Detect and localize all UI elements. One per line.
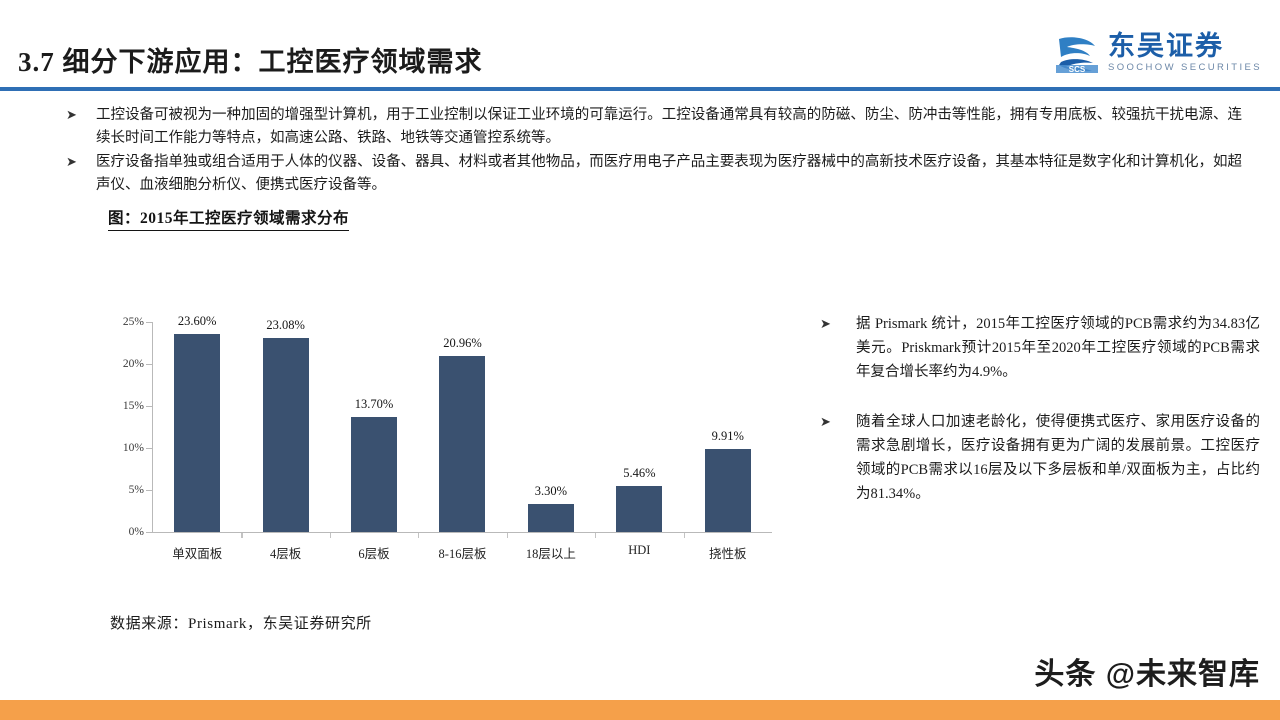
bar-value-label: 23.60%: [178, 314, 217, 329]
y-axis-tick-mark: [146, 406, 152, 407]
x-axis-category-label: 18层以上: [526, 543, 576, 562]
bar-value-label: 20.96%: [443, 336, 482, 351]
bar: [616, 486, 662, 532]
y-axis-tick-labels: 0%5%10%15%20%25%: [100, 322, 144, 532]
bar-value-label: 13.70%: [355, 397, 394, 412]
y-axis-tick-label: 25%: [123, 316, 144, 328]
bullet-text: 工控设备可被视为一种加固的增强型计算机，用于工业控制以保证工业环境的可靠运行。工…: [96, 104, 1242, 149]
x-axis-category-label: 4层板: [270, 543, 301, 562]
x-axis-category-label: 挠性板: [709, 543, 747, 562]
brand-name-cn: 东吴证券: [1108, 33, 1262, 60]
bar: [174, 334, 220, 532]
bar-group: 5.46%: [595, 322, 683, 532]
bullet-arrow-icon: ➤: [820, 410, 856, 434]
bar: [528, 504, 574, 532]
bullet-item: ➤ 据 Prismark 统计，2015年工控医疗领域的PCB需求约为34.83…: [820, 312, 1260, 384]
chart-plot-region: 0%5%10%15%20%25% 23.60%23.08%13.70%20.96…: [100, 300, 800, 550]
bullet-text: 据 Prismark 统计，2015年工控医疗领域的PCB需求约为34.83亿美…: [856, 312, 1260, 384]
right-bullet-list: ➤ 据 Prismark 统计，2015年工控医疗领域的PCB需求约为34.83…: [820, 312, 1260, 532]
soochow-logo-mark-icon: SCS: [1055, 32, 1099, 74]
y-axis-tick-label: 20%: [123, 358, 144, 370]
brand-logo: SCS 东吴证券 SOOCHOW SECURITIES: [1055, 30, 1262, 76]
y-axis-tick-label: 15%: [123, 400, 144, 412]
footer-accent-bar: [0, 700, 1280, 720]
brand-name-en: SOOCHOW SECURITIES: [1108, 63, 1262, 73]
x-axis-tick-mark: [241, 533, 242, 538]
bullet-text: 医疗设备指单独或组合适用于人体的仪器、设备、器具、材料或者其他物品，而医疗用电子…: [96, 151, 1242, 196]
y-axis-tick-label: 5%: [129, 484, 144, 496]
y-axis-tick-mark: [146, 364, 152, 365]
bar-group: 9.91%: [684, 322, 772, 532]
x-axis-tick-mark: [507, 533, 508, 538]
x-axis-tick-mark: [330, 533, 331, 538]
bullet-arrow-icon: ➤: [62, 151, 96, 173]
x-axis-category-label: 8-16层板: [439, 543, 487, 562]
bar: [263, 338, 309, 532]
header-divider: [0, 87, 1280, 91]
svg-text:SCS: SCS: [1069, 65, 1086, 74]
bar-value-label: 9.91%: [712, 429, 744, 444]
x-axis-category-label: HDI: [628, 543, 650, 558]
bar-value-label: 5.46%: [623, 466, 655, 481]
bar-group: 3.30%: [507, 322, 595, 532]
watermark-text: 头条 @未来智库: [1034, 649, 1260, 693]
y-axis-tick-mark: [146, 532, 152, 533]
y-axis-tick-mark: [146, 322, 152, 323]
bar: [439, 356, 485, 532]
slide-header: 3.7 细分下游应用：工控医疗领域需求 SCS 东吴证券 SOOCHOW SEC…: [0, 0, 1280, 92]
bar-group: 13.70%: [330, 322, 418, 532]
bar: [705, 449, 751, 532]
bullet-text: 随着全球人口加速老龄化，使得便携式医疗、家用医疗设备的需求急剧增长，医疗设备拥有…: [856, 410, 1260, 506]
x-axis-category-label: 6层板: [358, 543, 389, 562]
x-axis-tick-mark: [595, 533, 596, 538]
figure-caption: 图：2015年工控医疗领域需求分布: [108, 206, 349, 231]
bullet-arrow-icon: ➤: [820, 312, 856, 336]
y-axis-tick-mark: [146, 448, 152, 449]
x-axis-tick-mark: [418, 533, 419, 538]
bullet-item: ➤ 医疗设备指单独或组合适用于人体的仪器、设备、器具、材料或者其他物品，而医疗用…: [62, 151, 1242, 196]
brand-logo-text: 东吴证券 SOOCHOW SECURITIES: [1108, 33, 1262, 73]
bar-group: 23.08%: [241, 322, 329, 532]
y-axis-tick-mark: [146, 490, 152, 491]
bullet-arrow-icon: ➤: [62, 104, 96, 126]
bar-value-label: 23.08%: [266, 318, 305, 333]
x-axis-tick-mark: [684, 533, 685, 538]
page-title: 3.7 细分下游应用：工控医疗领域需求: [18, 40, 483, 79]
y-axis-tick-label: 0%: [129, 526, 144, 538]
bullet-item: ➤ 随着全球人口加速老龄化，使得便携式医疗、家用医疗设备的需求急剧增长，医疗设备…: [820, 410, 1260, 506]
bar-group: 20.96%: [418, 322, 506, 532]
chart-source-note: 数据来源：Prismark，东吴证券研究所: [110, 612, 372, 633]
y-axis-tick-label: 10%: [123, 442, 144, 454]
x-axis-category-labels: 单双面板4层板6层板8-16层板18层以上HDI挠性板: [153, 543, 772, 571]
bar: [351, 417, 397, 532]
bullet-item: ➤ 工控设备可被视为一种加固的增强型计算机，用于工业控制以保证工业环境的可靠运行…: [62, 104, 1242, 149]
top-bullet-list: ➤ 工控设备可被视为一种加固的增强型计算机，用于工业控制以保证工业环境的可靠运行…: [62, 104, 1242, 198]
bars-container: 23.60%23.08%13.70%20.96%3.30%5.46%9.91%: [153, 322, 772, 532]
bar-group: 23.60%: [153, 322, 241, 532]
x-axis-category-label: 单双面板: [172, 543, 222, 562]
bar-value-label: 3.30%: [535, 484, 567, 499]
x-axis-line: [152, 532, 772, 533]
demand-distribution-chart: 0%5%10%15%20%25% 23.60%23.08%13.70%20.96…: [100, 300, 800, 590]
